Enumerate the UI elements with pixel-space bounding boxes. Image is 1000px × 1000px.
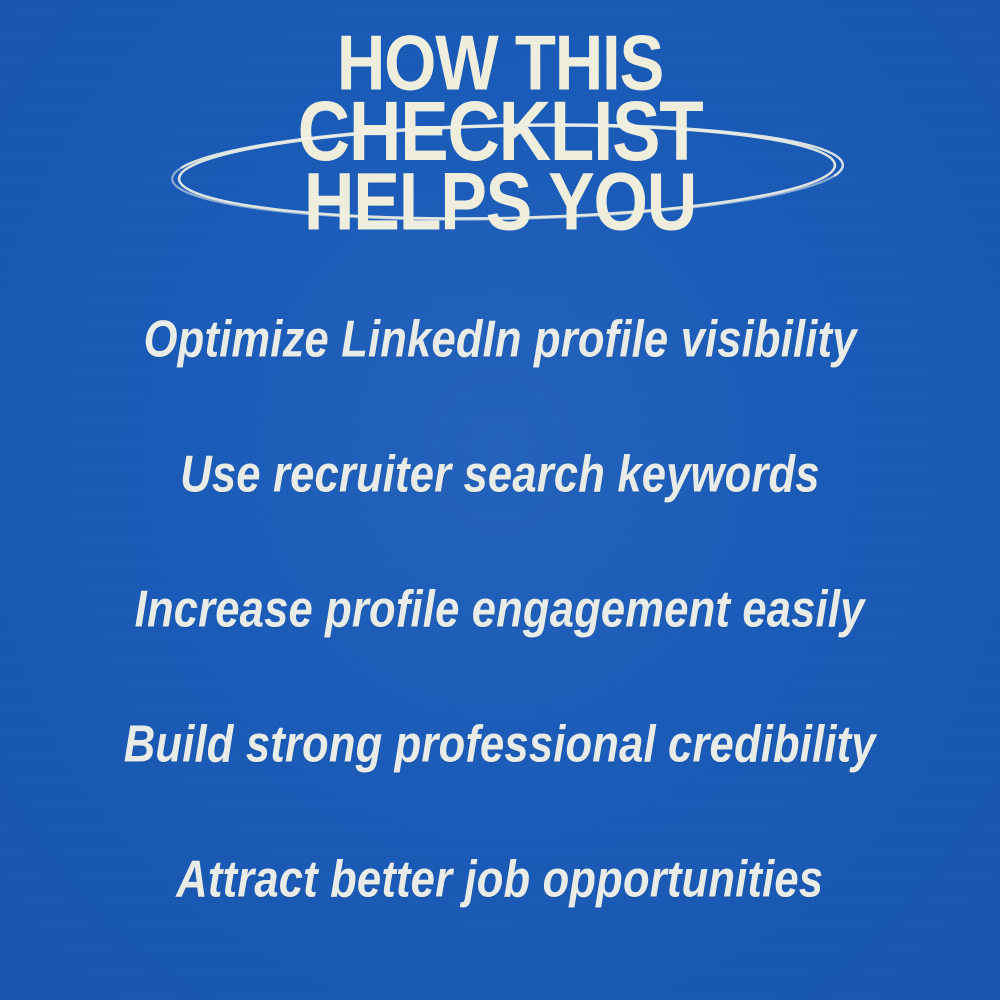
list-item: Optimize LinkedIn profile visibility xyxy=(0,272,1000,407)
list-item: Use recruiter search keywords xyxy=(0,407,1000,542)
list-item: Attract better job opportunities xyxy=(0,812,1000,947)
list-item-label: Optimize LinkedIn profile visibility xyxy=(143,310,856,369)
headline-block: HOW THIS CHECKLIST HELPS YOU xyxy=(0,36,1000,232)
list-item-label: Build strong professional credibility xyxy=(124,715,876,774)
headline-line-3: HELPS YOU xyxy=(0,167,1000,237)
list-item: Increase profile engagement easily xyxy=(0,542,1000,677)
list-item: Build strong professional credibility xyxy=(0,677,1000,812)
list-item-label: Attract better job opportunities xyxy=(177,850,824,909)
checklist-items: Optimize LinkedIn profile visibility Use… xyxy=(0,272,1000,947)
poster-canvas: HOW THIS CHECKLIST HELPS YOU Optimize Li… xyxy=(0,0,1000,1000)
list-item-label: Increase profile engagement easily xyxy=(135,580,865,639)
list-item-label: Use recruiter search keywords xyxy=(180,445,819,504)
